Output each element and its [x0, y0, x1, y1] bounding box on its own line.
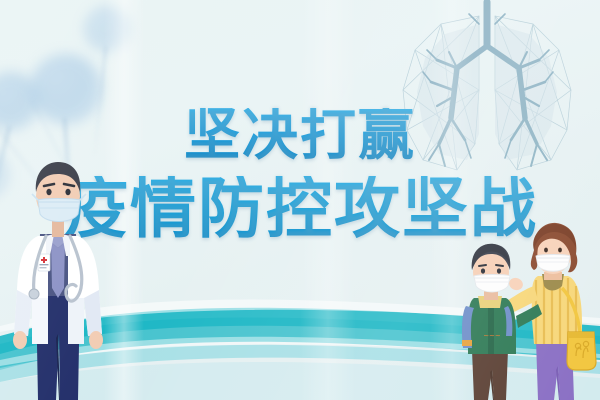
- doctor-hand-right: [89, 331, 103, 349]
- boy-mask-icon: [474, 275, 510, 293]
- mother-mask-icon: [536, 255, 570, 272]
- doctor-hand-left: [13, 331, 27, 349]
- stethoscope-chestpiece: [29, 289, 39, 299]
- boy-figure: ~~~: [462, 244, 542, 400]
- boy-pants: [472, 350, 508, 400]
- molecule-icon: [84, 6, 130, 52]
- doctor-neck: [52, 220, 64, 237]
- family-illustration: ~~~: [450, 220, 600, 400]
- doctor-tie: [51, 234, 65, 298]
- boy-jacket-text: ~~~: [483, 332, 501, 340]
- doctor-illustration: [2, 138, 122, 400]
- poster-canvas: 坚决打赢 疫情防控攻坚战: [0, 0, 600, 400]
